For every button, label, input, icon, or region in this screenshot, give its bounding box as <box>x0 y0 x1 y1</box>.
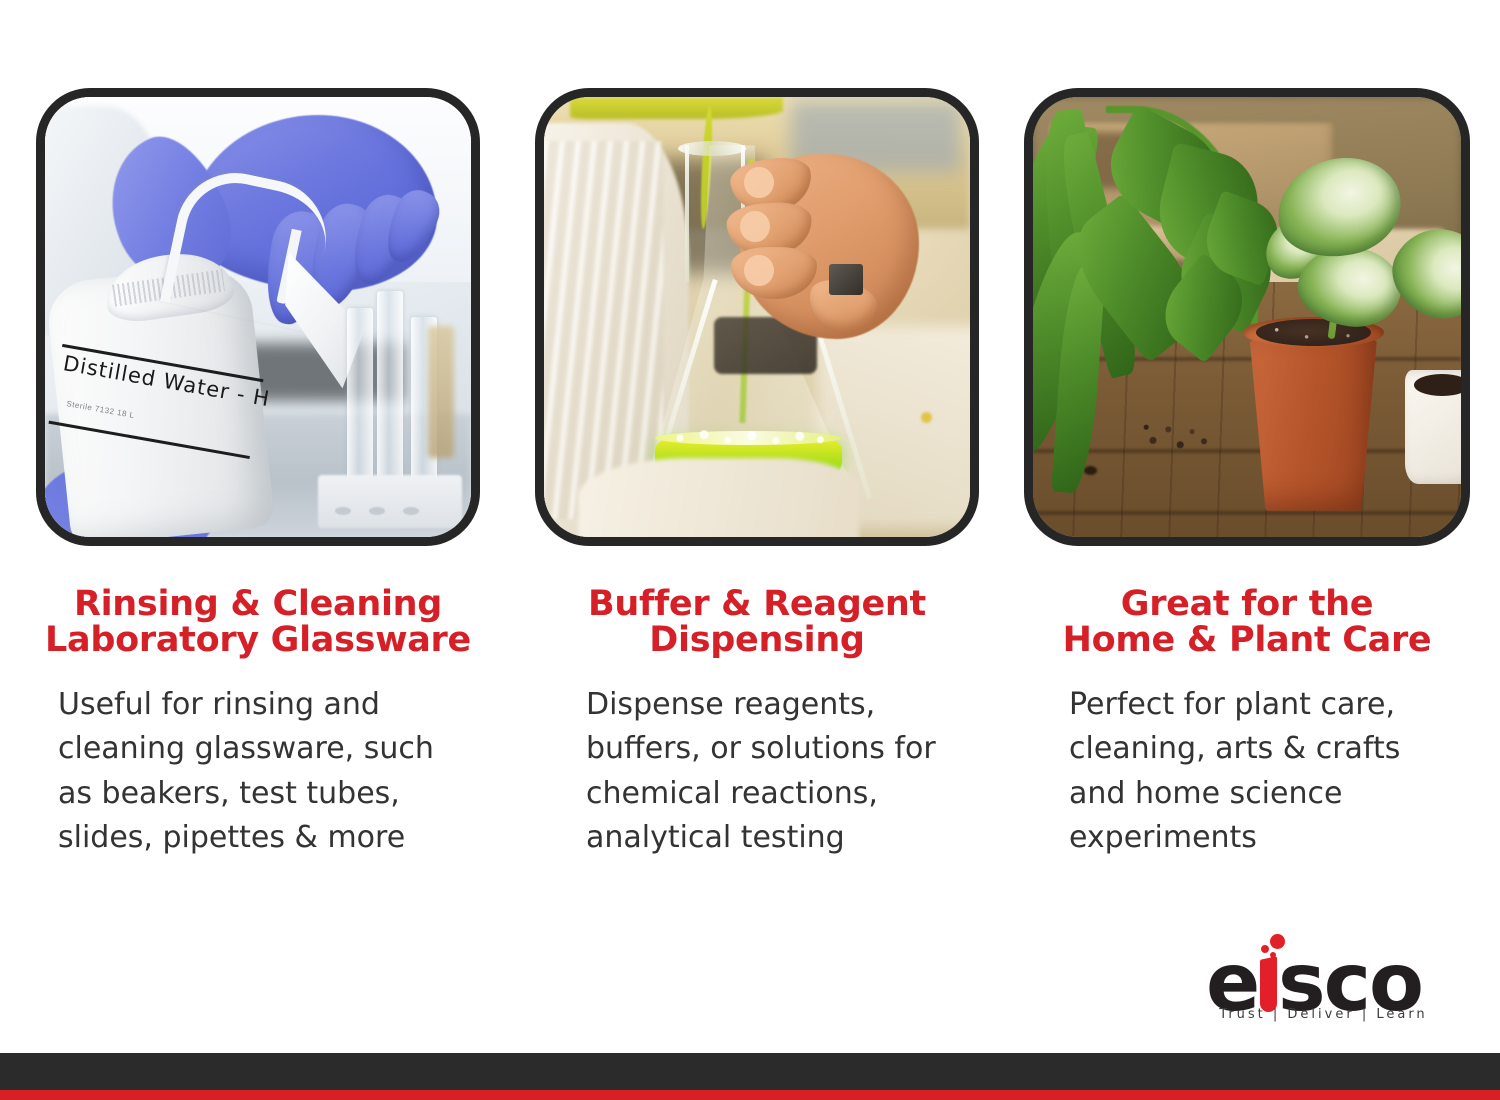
logo-tagline: Trust | Deliver | Learn <box>1216 1007 1431 1022</box>
ring <box>829 264 863 295</box>
pouring-vessel-edge <box>570 97 783 119</box>
flask-rim <box>678 141 746 156</box>
flask-neck-left <box>685 145 689 281</box>
feature-image-card-1: Distilled Water - H Sterile 7132 18 L <box>36 88 480 546</box>
foam-bubbles <box>663 427 833 449</box>
infographic-page: Distilled Water - H Sterile 7132 18 L Ri… <box>0 0 1500 1100</box>
test-tube-icon <box>1260 960 1277 1012</box>
rack-hole <box>335 507 351 515</box>
amber-bottle <box>428 326 454 458</box>
feature-body-3: Perfect for plant care, cleaning, arts &… <box>1024 683 1470 861</box>
feature-column-2: Buffer & Reagent Dispensing Dispense rea… <box>535 88 979 860</box>
feature-body-1: Useful for rinsing and cleaning glasswar… <box>36 683 480 861</box>
feature-image-card-2 <box>535 88 979 546</box>
lab-coat-lower <box>578 458 859 537</box>
rack-hole <box>369 507 385 515</box>
footer-dark-bar <box>0 1053 1500 1090</box>
feature-heading-3: Great for the Home & Plant Care <box>1024 586 1470 659</box>
feature-heading-2: Buffer & Reagent Dispensing <box>535 586 979 659</box>
photo-potted-plant <box>1033 97 1461 537</box>
fingernail <box>744 255 774 286</box>
eisco-logo: e sco Trust | Deliver | Learn <box>1206 915 1436 1025</box>
rack-hole <box>403 507 419 515</box>
test-tube <box>347 308 373 502</box>
fingernail <box>740 211 770 242</box>
feature-column-3: Great for the Home & Plant Care Perfect … <box>1024 88 1470 860</box>
footer-red-bar <box>0 1090 1500 1100</box>
terracotta-pot <box>1247 339 1380 511</box>
photo-flask-pouring <box>544 97 970 537</box>
feature-column-1: Distilled Water - H Sterile 7132 18 L Ri… <box>36 88 480 860</box>
feature-body-2: Dispense reagents, buffers, or solutions… <box>535 683 979 861</box>
background-highlight <box>921 412 932 423</box>
plank-seam <box>1033 449 1461 453</box>
plank-seam <box>1033 511 1461 515</box>
feature-heading-1: Rinsing & Cleaning Laboratory Glassware <box>36 586 480 659</box>
bubble-icon <box>1261 945 1269 953</box>
eisco-wordmark: e sco <box>1206 931 1436 1005</box>
test-tube <box>377 291 403 502</box>
spilled-soil <box>1136 414 1222 458</box>
fingernail <box>744 167 774 198</box>
photo-wash-bottle: Distilled Water - H Sterile 7132 18 L <box>45 97 471 537</box>
feature-image-card-3 <box>1024 88 1470 546</box>
test-tube-rack <box>318 475 463 528</box>
